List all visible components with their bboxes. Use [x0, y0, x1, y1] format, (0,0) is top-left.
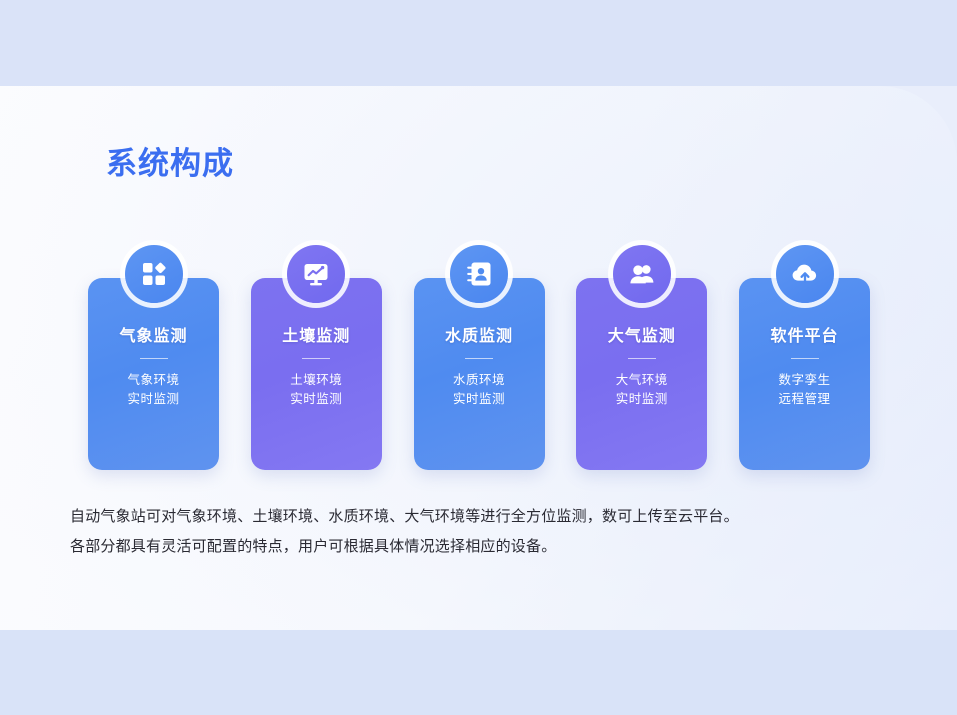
card-divider [465, 358, 493, 359]
card-description-line1: 水质环境 [453, 371, 505, 390]
contact-book-icon [450, 245, 508, 303]
cloud-upload-icon [776, 245, 834, 303]
card-description-line2: 实时监测 [616, 390, 668, 409]
grid-squares-diamond-icon [125, 245, 183, 303]
card-weather-monitoring[interactable]: 气象监测 气象环境 实时监测 [88, 278, 219, 470]
card-description-line2: 实时监测 [127, 390, 179, 409]
card-description: 土壤环境 实时监测 [290, 371, 342, 410]
users-group-icon [613, 245, 671, 303]
card-description-line2: 实时监测 [453, 390, 505, 409]
card-description-line1: 土壤环境 [290, 371, 342, 390]
card-description-line2: 远程管理 [778, 390, 830, 409]
card-description-line1: 气象环境 [127, 371, 179, 390]
card-description-line1: 数字孪生 [778, 371, 830, 390]
card-soil-monitoring[interactable]: 土壤监测 土壤环境 实时监测 [251, 278, 382, 470]
card-description: 大气环境 实时监测 [616, 371, 668, 410]
card-description-line2: 实时监测 [290, 390, 342, 409]
card-atmosphere-monitoring[interactable]: 大气监测 大气环境 实时监测 [576, 278, 707, 470]
card-title: 气象监测 [119, 329, 187, 345]
card-water-quality-monitoring[interactable]: 水质监测 水质环境 实时监测 [414, 278, 545, 470]
card-title: 大气监测 [608, 329, 676, 345]
footnote-paragraph: 自动气象站可对气象环境、土壤环境、水质环境、大气环境等进行全方位监测，数可上传至… [70, 502, 940, 562]
card-description: 数字孪生 远程管理 [778, 371, 830, 410]
card-divider [628, 358, 656, 359]
card-divider [302, 358, 330, 359]
card-title: 水质监测 [445, 329, 513, 345]
monitor-chart-icon [287, 245, 345, 303]
footnote-line-2: 各部分都具有灵活可配置的特点，用户可根据具体情况选择相应的设备。 [70, 532, 940, 562]
page-title: 系统构成 [106, 148, 234, 179]
footnote-line-1: 自动气象站可对气象环境、土壤环境、水质环境、大气环境等进行全方位监测，数可上传至… [70, 502, 940, 532]
card-description: 水质环境 实时监测 [453, 371, 505, 410]
card-title: 土壤监测 [282, 329, 350, 345]
card-description-line1: 大气环境 [616, 371, 668, 390]
card-description: 气象环境 实时监测 [127, 371, 179, 410]
card-divider [140, 358, 168, 359]
card-software-platform[interactable]: 软件平台 数字孪生 远程管理 [739, 278, 870, 470]
card-title: 软件平台 [770, 329, 838, 345]
card-divider [791, 358, 819, 359]
card-row: 气象监测 气象环境 实时监测 土壤监测 土壤环境 [88, 278, 870, 470]
slide-root: 系统构成 气象监测 气象环境 实时监测 [0, 0, 957, 715]
